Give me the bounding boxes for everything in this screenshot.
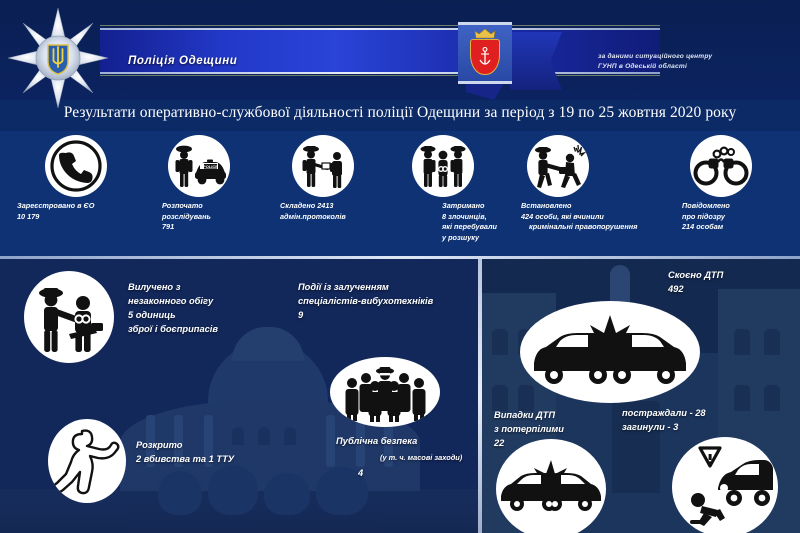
public-safety-caption: Публічна безпека: [336, 435, 417, 449]
banner-highlight-bottom: [100, 72, 660, 74]
window: [734, 385, 750, 411]
caption-line: Розпочато: [162, 201, 211, 212]
caption-line: Повідомлено: [682, 201, 730, 212]
window: [518, 385, 534, 411]
tree: [208, 465, 258, 515]
caption-line: 5 одиниць: [128, 309, 218, 323]
lower-section: Вилучено з незаконного обігу 5 одиниць з…: [0, 259, 800, 533]
caption-line: Скоєно ДТП: [668, 269, 723, 283]
stat-caption: Складено 2413 адмін.протоколів: [280, 201, 346, 222]
handcuffs-icon: [690, 135, 752, 197]
police-search-suspect-icon: [24, 271, 114, 363]
telephone-icon: [45, 135, 107, 197]
weapons-caption: Вилучено з незаконного обігу 5 одиниць з…: [128, 281, 218, 337]
tree: [158, 471, 202, 515]
anchor-icon: [478, 47, 492, 69]
caption-line: 424 особи, які вчинили: [521, 212, 637, 223]
casualties-caption: постраждали - 28 загинули - 3: [622, 407, 706, 435]
public-safety-subnote: (у т. ч. масові заходи): [380, 452, 462, 463]
chalk-body-outline-icon: [48, 419, 126, 503]
window: [734, 329, 750, 355]
header: Поліція Одещини за даними ситуаційного ц…: [0, 0, 800, 100]
banner-title: Поліція Одещини: [128, 55, 237, 67]
tree: [264, 473, 310, 515]
caption-line: 4: [358, 467, 363, 481]
explosives-caption: Події із залученням спеціалістів-вибухот…: [298, 281, 433, 323]
caption-line: Зареєстровано в ЄО: [17, 201, 94, 212]
banner-highlight-top: [100, 28, 660, 30]
source-note-line1: за даними ситуаційного центру: [598, 52, 798, 62]
car-collision-icon: [496, 439, 606, 533]
window: [492, 385, 508, 411]
arrest-escort-icon: [412, 135, 474, 197]
caption-line: 2 вбивства та 1 ТТУ: [136, 453, 234, 467]
caption-line: Події із залученням: [298, 281, 433, 295]
caption-line: незаконного обігу: [128, 295, 218, 309]
stat-caption: Повідомлено про підозру 214 особам: [682, 201, 730, 233]
source-note-line2: ГУНП в Одеській області: [598, 62, 798, 72]
caption-line: адмін.протоколів: [280, 212, 346, 223]
window: [284, 427, 296, 445]
car-crash-icon: [520, 301, 700, 403]
statue-figure: [610, 265, 630, 305]
left-panel: Вилучено з незаконного обігу 5 одиниць з…: [0, 259, 478, 533]
stat-caption: Встановлено 424 особи, які вчинили кримі…: [521, 201, 637, 233]
caption-line: 9: [298, 309, 433, 323]
stats-row: Зареєстровано в ЄО 10 179: [0, 131, 800, 256]
caption-line: Затримано: [442, 201, 497, 212]
stat-caption: Зареєстровано в ЄО 10 179: [17, 201, 94, 222]
caption-line: Випадки ДТП: [494, 409, 564, 423]
caption-line: які перебували: [442, 222, 497, 233]
solved-caption: Розкрито 2 вбивства та 1 ТТУ: [136, 439, 234, 467]
caption-line: кримінальні правопорушення: [529, 222, 637, 233]
odesa-coat-of-arms-icon: [458, 22, 512, 84]
caption-line: 214 особам: [682, 222, 730, 233]
stat-caption: Затримано 8 злочинців, які перебували у …: [442, 201, 497, 243]
ticket-issue-icon: [292, 135, 354, 197]
building-cupola: [232, 327, 304, 361]
caption-line: спеціалістів-вибухотехніків: [298, 295, 433, 309]
caption-line: Складено 2413: [280, 201, 346, 212]
caption-line: про підозру: [682, 212, 730, 223]
caption-line: розслідувань: [162, 212, 211, 223]
police-star-badge-icon: [6, 6, 110, 110]
caption-line: з потерпілими: [494, 423, 564, 437]
infographic-page: Поліція Одещини за даними ситуаційного ц…: [0, 0, 800, 533]
caption-line: (у т. ч. масові заходи): [380, 452, 462, 463]
banner-edge-bottom: [100, 75, 660, 76]
caption-line: Публічна безпека: [336, 435, 417, 449]
caption-line: 791: [162, 222, 211, 233]
caption-line: 10 179: [17, 212, 94, 223]
window: [764, 385, 780, 411]
caption-line: Вилучено з: [128, 281, 218, 295]
caption-line: Встановлено: [521, 201, 637, 212]
right-panel: Скоєно ДТП 492: [482, 259, 800, 533]
trees: [118, 463, 418, 515]
banner-edge-top: [100, 25, 660, 26]
page-title: Результати оперативно-службової діяльнос…: [0, 104, 800, 122]
crowd-people-icon: [330, 357, 440, 427]
stat-caption: Розпочато розслідувань 791: [162, 201, 211, 233]
pedestrian-hit-warning-icon: [672, 437, 778, 533]
police-car-icon: POLICE: [168, 135, 230, 197]
caption-line: у розшуку: [442, 233, 497, 244]
source-note: за даними ситуаційного центру ГУНП в Оде…: [598, 52, 798, 72]
accidents-caption: Скоєно ДТП 492: [668, 269, 723, 297]
caption-line: постраждали - 28: [622, 407, 706, 421]
window: [492, 329, 508, 355]
caption-line: 8 злочинців,: [442, 212, 497, 223]
caption-line: 492: [668, 283, 723, 297]
svg-text:POLICE: POLICE: [203, 164, 218, 169]
window: [258, 427, 270, 445]
caption-line: загинули - 3: [622, 421, 706, 435]
caption-line: Розкрито: [136, 439, 234, 453]
public-safety-value: 4: [358, 467, 363, 481]
caption-line: зброї і боєприпасів: [128, 323, 218, 337]
crown-icon: [474, 29, 496, 39]
ribbon-tail: [510, 32, 562, 90]
column: [326, 415, 335, 467]
window: [764, 329, 780, 355]
catch-thief-icon: [527, 135, 589, 197]
arms-shield: [470, 39, 500, 75]
